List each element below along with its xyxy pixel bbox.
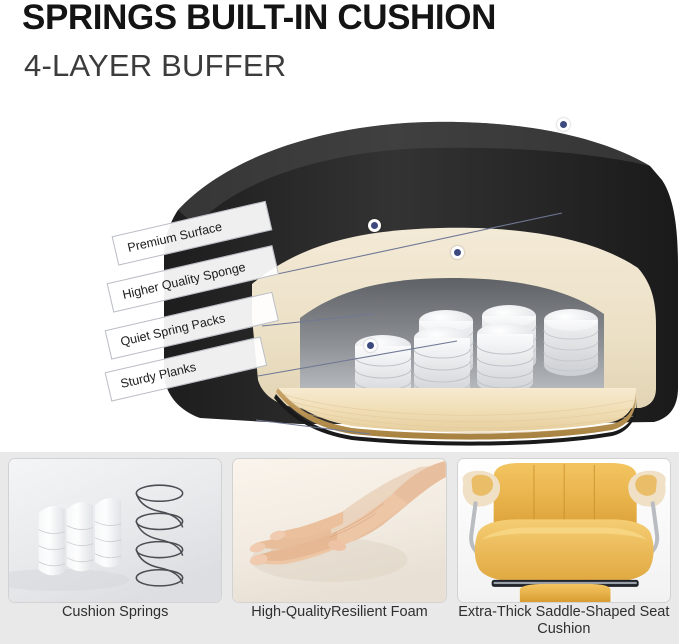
yellow-office-chair-photo xyxy=(458,459,670,602)
leader-dot-sturdy-planks xyxy=(364,339,377,352)
chair-footrest xyxy=(520,584,611,602)
leader-dot-premium-surface xyxy=(557,118,570,131)
caption-cushion-springs: Cushion Springs xyxy=(8,604,222,638)
pocket-springs-photo xyxy=(9,459,221,602)
infographic-page: SPRINGS BUILT-IN CUSHION 4-LAYER BUFFER xyxy=(0,0,679,644)
caption-resilient-foam: High-QualityResilient Foam xyxy=(232,604,446,638)
header: SPRINGS BUILT-IN CUSHION 4-LAYER BUFFER xyxy=(0,0,679,98)
page-title: SPRINGS BUILT-IN CUSHION xyxy=(22,0,496,38)
feature-strip: Cushion Springs High-QualityResilient Fo… xyxy=(0,452,679,644)
leader-dot-quiet-spring-packs xyxy=(451,246,464,259)
page-subtitle: 4-LAYER BUFFER xyxy=(24,48,286,84)
hand-pressing-foam-photo xyxy=(233,459,445,602)
leader-dot-higher-quality-sponge xyxy=(368,219,381,232)
feature-panel-resilient-foam xyxy=(232,458,446,603)
cushion-cutaway-illustration xyxy=(0,88,679,450)
feature-captions: Cushion Springs High-QualityResilient Fo… xyxy=(0,604,679,638)
feature-panels xyxy=(0,458,679,603)
cutaway-svg xyxy=(0,88,679,450)
feature-panel-saddle-seat-cushion xyxy=(457,458,671,603)
feature-panel-cushion-springs xyxy=(8,458,222,603)
caption-saddle-seat-cushion: Extra-Thick Saddle-Shaped Seat Cushion xyxy=(457,604,671,638)
